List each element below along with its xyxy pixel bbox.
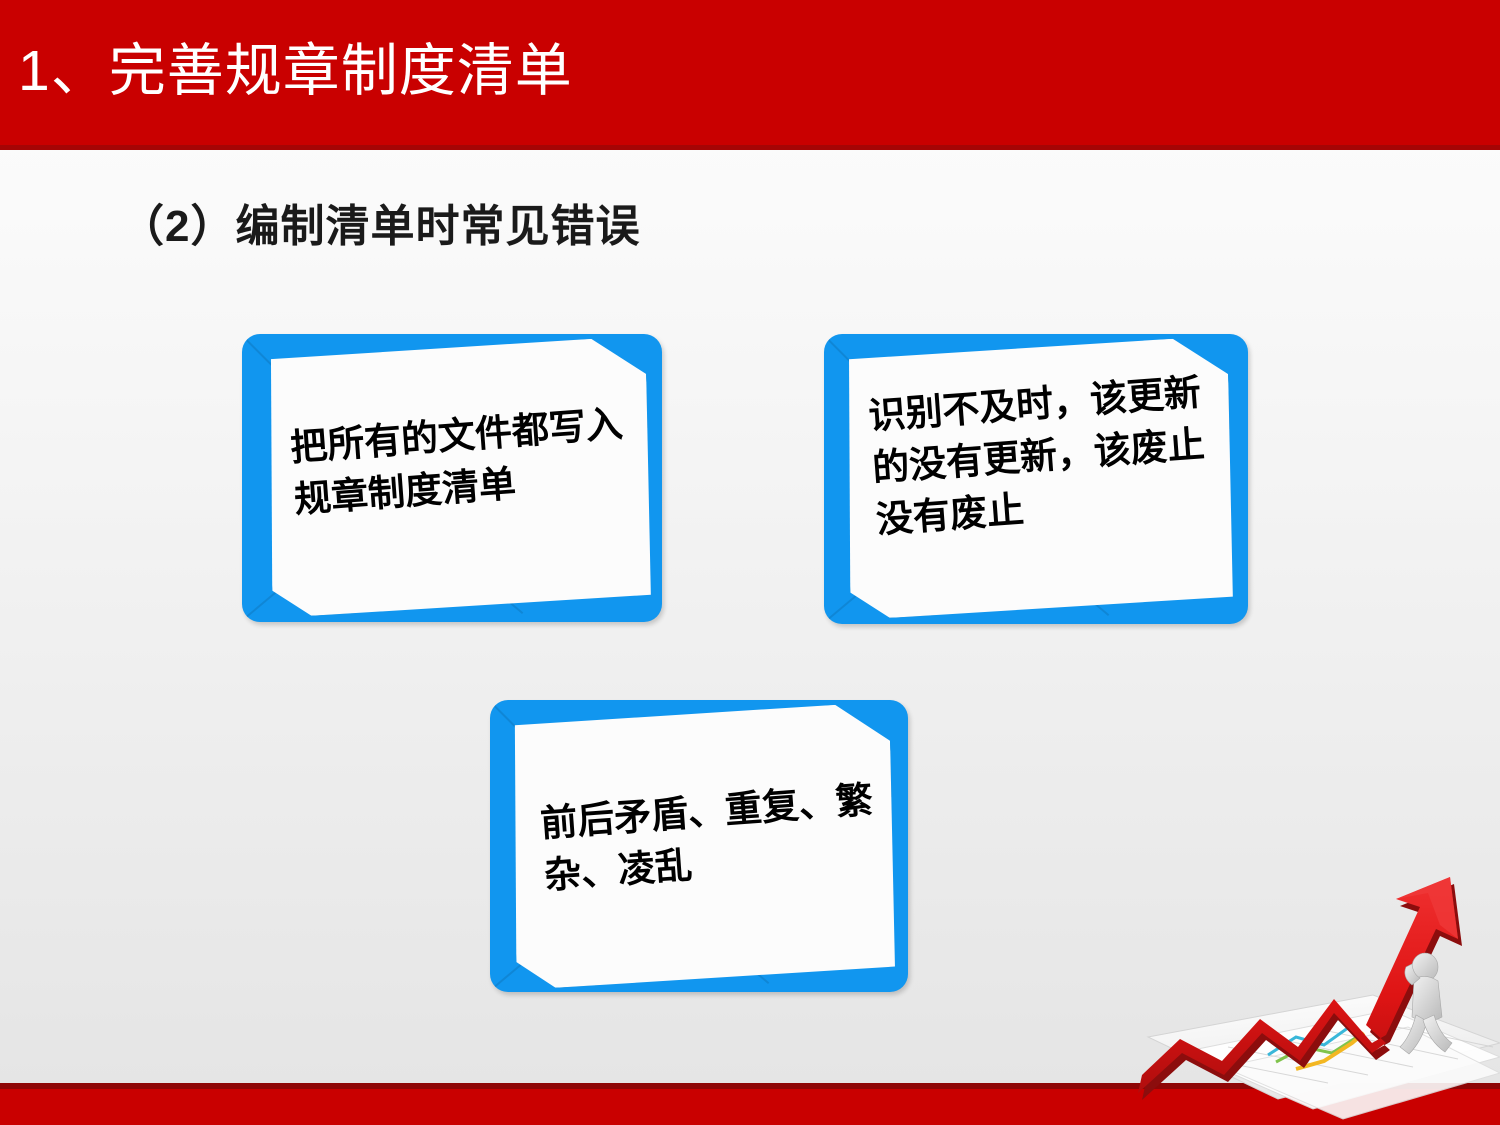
footer-bar: [0, 1083, 1500, 1125]
page-title: 1、完善规章制度清单: [18, 36, 573, 106]
presentation-slide: 1、完善规章制度清单 （2）编制清单时常见错误 把所有的文件都写入规章制度清单 …: [0, 0, 1500, 1125]
section-subtitle: （2）编制清单时常见错误: [120, 198, 640, 256]
error-card-3[interactable]: 前后矛盾、重复、繁杂、凌乱: [490, 700, 908, 992]
header-bar: 1、完善规章制度清单: [0, 0, 1500, 150]
error-card-1[interactable]: 把所有的文件都写入规章制度清单: [242, 334, 662, 622]
error-card-2[interactable]: 识别不及时，该更新的没有更新，该废止没有废止: [824, 334, 1248, 624]
error-card-2-text: 识别不及时，该更新的没有更新，该废止没有废止: [867, 365, 1227, 546]
